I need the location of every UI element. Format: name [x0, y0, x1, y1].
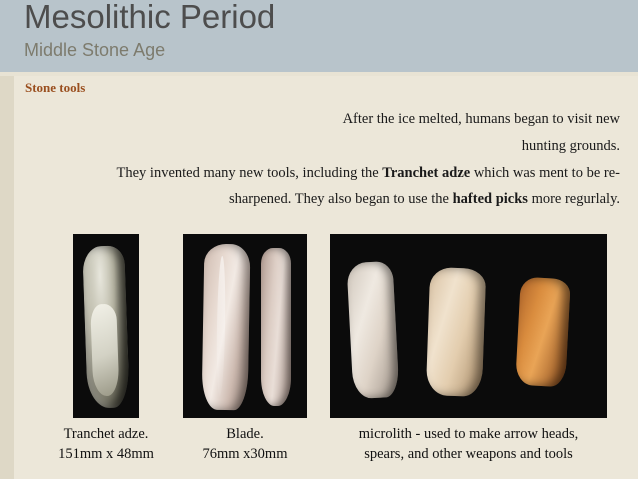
photo-blade [183, 234, 307, 418]
body-line-4-pre: sharpened. They also began to use the [229, 191, 453, 207]
caption-microlith: microlith - used to make arrow heads, sp… [330, 425, 607, 464]
figure-blade: Blade. 76mm x30mm [183, 234, 307, 464]
body-line-3-pre: They invented many new tools, including … [117, 165, 383, 181]
artifact-microlith-left [346, 261, 399, 399]
photo-microlith [330, 234, 607, 418]
artifact-microlith-center [426, 267, 486, 397]
page-title: Mesolithic Period [24, 0, 275, 36]
artifact-microlith-right [515, 277, 571, 387]
term-hafted-picks: hafted picks [453, 191, 528, 207]
figure-microlith: microlith - used to make arrow heads, sp… [330, 234, 607, 464]
figure-row: Tranchet adze. 151mm x 48mm Blade. 76mm … [0, 234, 638, 479]
body-line-1: After the ice melted, humans began to vi… [343, 111, 620, 127]
body-line-3-post: which was ment to be re- [470, 165, 620, 181]
artifact-blade-side [261, 248, 291, 406]
header-accent-line [0, 72, 638, 76]
section-label: Stone tools [25, 80, 85, 96]
body-paragraph: After the ice melted, humans began to vi… [36, 106, 620, 213]
caption-tranchet-adze: Tranchet adze. 151mm x 48mm [43, 425, 169, 464]
artifact-tranchet-adze [82, 245, 130, 408]
slide: Mesolithic Period Middle Stone Age Stone… [0, 0, 638, 479]
page-subtitle: Middle Stone Age [24, 40, 165, 61]
body-line-4-post: more regurlaly. [528, 191, 620, 207]
photo-tranchet-adze [73, 234, 139, 418]
caption-blade: Blade. 76mm x30mm [183, 425, 307, 464]
figure-tranchet-adze: Tranchet adze. 151mm x 48mm [43, 234, 169, 464]
term-tranchet-adze: Tranchet adze [382, 165, 470, 181]
body-line-2: hunting grounds. [522, 138, 620, 154]
artifact-blade-front [202, 244, 251, 411]
